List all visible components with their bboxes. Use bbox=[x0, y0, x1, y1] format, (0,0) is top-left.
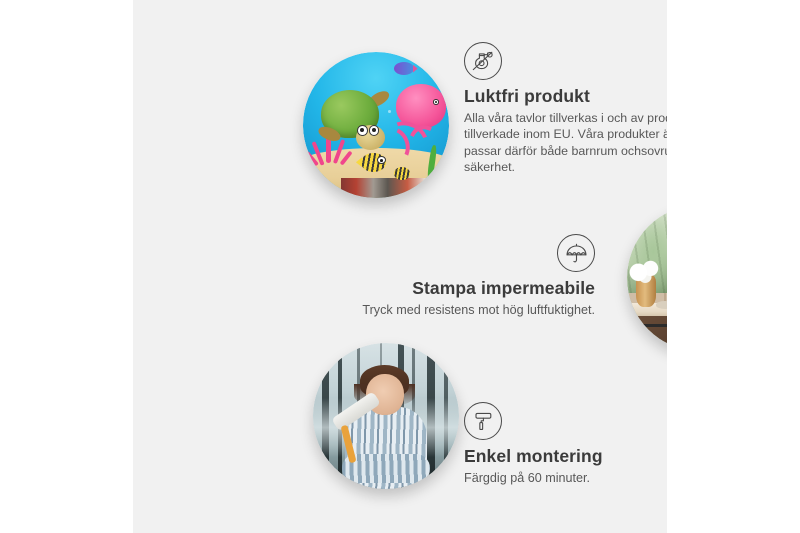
fish-eye bbox=[377, 156, 386, 164]
octopus-eye bbox=[433, 99, 439, 105]
forest-scene bbox=[313, 343, 459, 489]
striped-fish-icon bbox=[361, 153, 386, 172]
feature-body: Alla våra tavlor tillverkas i och av pro… bbox=[464, 110, 667, 176]
screenshot-root: Luktfri produkt Alla våra tavlor tillver… bbox=[0, 0, 800, 533]
bathroom-botanical-wallpaper-disc[interactable] bbox=[627, 205, 667, 351]
wooden-vanity-cabinet bbox=[627, 316, 667, 351]
feature-title: Stampa impermeabile bbox=[323, 278, 595, 299]
bathroom-scene bbox=[627, 205, 667, 351]
feature-title: Enkel montering bbox=[464, 446, 667, 467]
underwater-scene bbox=[303, 52, 449, 198]
sea-floor-objects bbox=[341, 178, 426, 198]
no-odour-spray-bottle-icon bbox=[464, 42, 502, 80]
feature-block-waterproof: Stampa impermeabile Tryck med resistens … bbox=[323, 234, 595, 318]
underwater-cartoon-wallpaper-disc[interactable] bbox=[303, 52, 449, 198]
feature-block-easy-mounting: Enkel montering Färgdig på 60 minuter. bbox=[464, 402, 667, 486]
turtle-eye bbox=[369, 125, 380, 136]
feature-title: Luktfri produkt bbox=[464, 86, 667, 107]
turtle-eye bbox=[357, 125, 368, 136]
feature-body: Färgdig på 60 minuter. bbox=[464, 470, 667, 486]
woman-paint-roller-forest-disc[interactable] bbox=[313, 343, 459, 489]
soap-dish bbox=[656, 301, 667, 308]
flowers bbox=[627, 258, 665, 284]
feature-block-odourless: Luktfri produkt Alla våra tavlor tillver… bbox=[464, 42, 667, 176]
bubble-icon bbox=[388, 110, 391, 113]
content-panel: Luktfri produkt Alla våra tavlor tillver… bbox=[133, 0, 667, 533]
feature-body: Tryck med resistens mot hög luftfuktighe… bbox=[323, 302, 595, 318]
paint-roller-icon bbox=[464, 402, 502, 440]
umbrella-icon bbox=[557, 234, 595, 272]
